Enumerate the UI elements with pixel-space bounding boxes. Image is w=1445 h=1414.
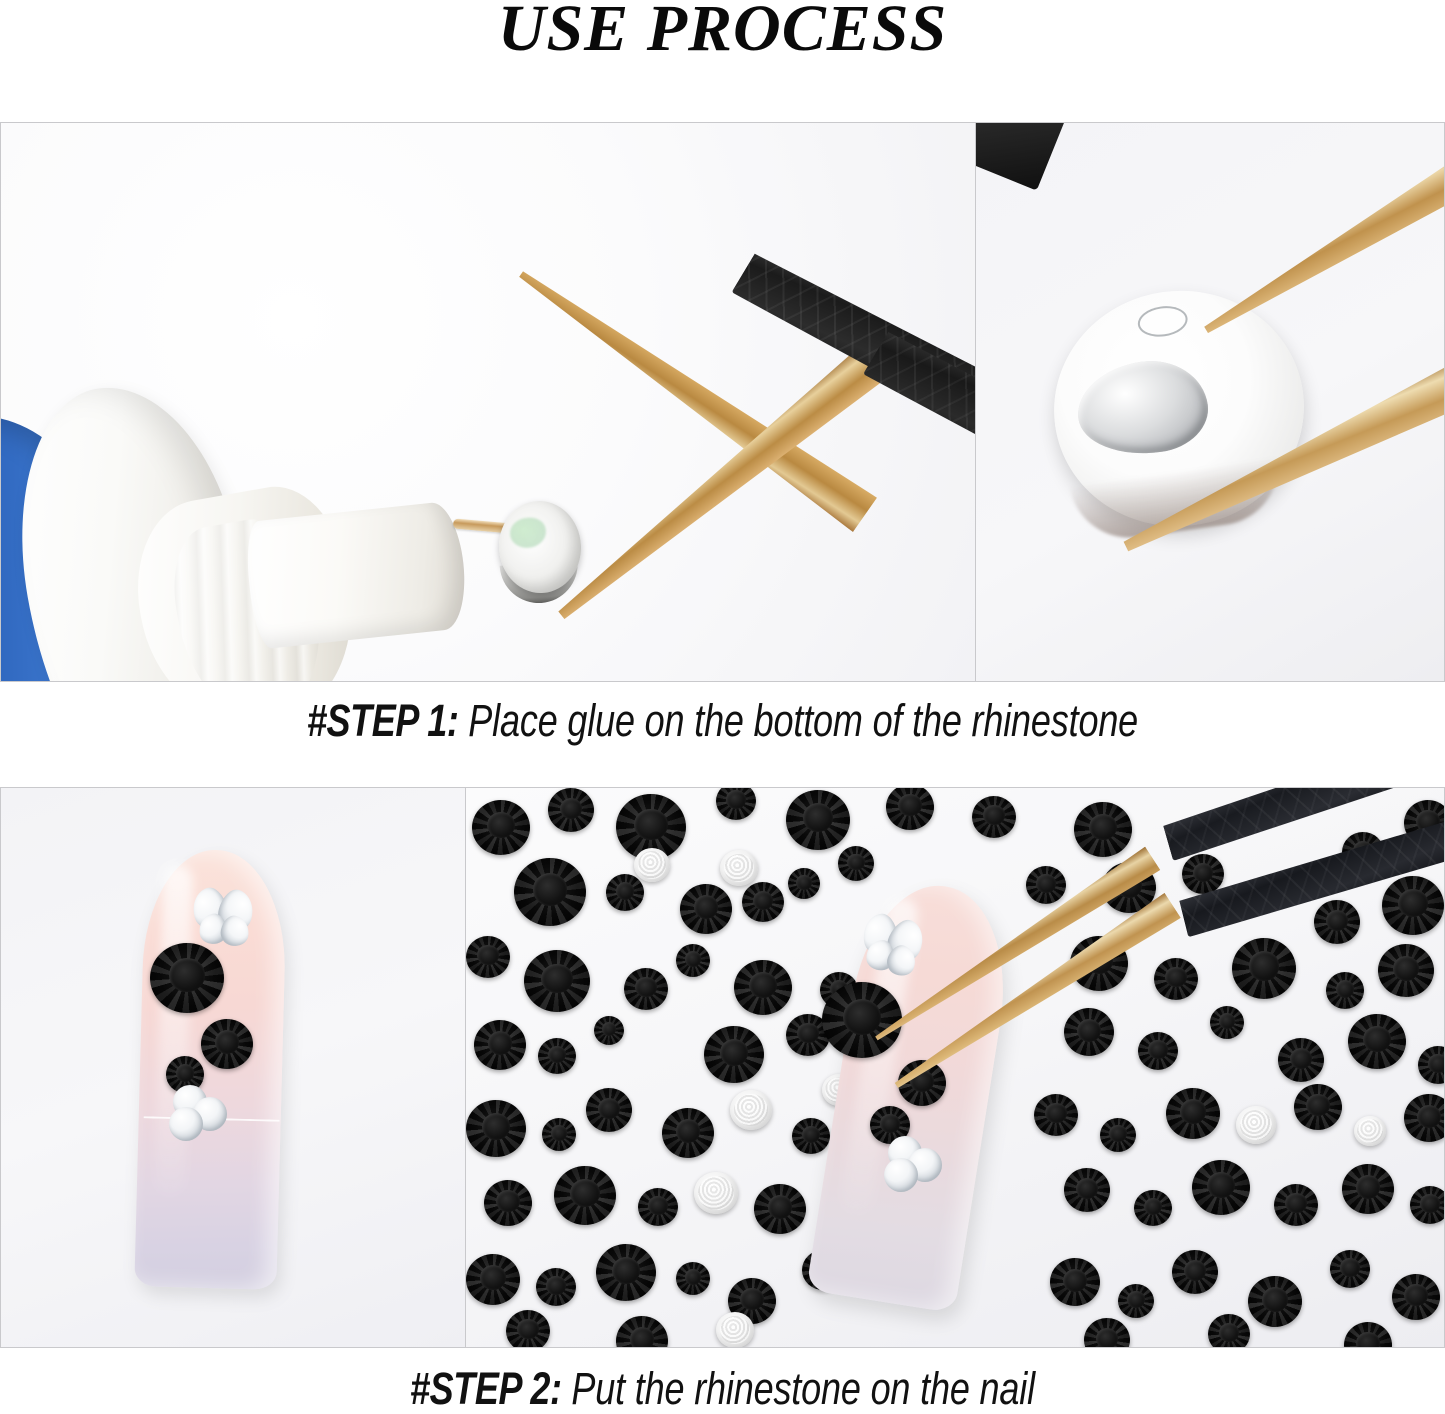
clear-flower-charm <box>884 1136 946 1196</box>
glue-bubble <box>1136 303 1190 340</box>
placing-rhinestone-photo <box>465 787 1445 1348</box>
clear-butterfly-charm <box>193 888 253 946</box>
clear-butterfly-charm <box>858 912 926 979</box>
black-rhinestone-being-placed <box>822 982 902 1058</box>
clear-flower-charm <box>169 1085 231 1145</box>
step-1-photo-row <box>0 122 1445 682</box>
step-2-caption: #STEP 2: Put the rhinestone on the nail <box>145 1366 1301 1411</box>
step-2-text: Put the rhinestone on the nail <box>562 1363 1035 1414</box>
glue-bottle-nozzle <box>243 500 470 650</box>
finished-nail-photo <box>0 787 465 1348</box>
step-1-caption: #STEP 1: Place glue on the bottom of the… <box>145 698 1301 743</box>
page-title: USE PROCESS <box>498 0 947 62</box>
glue-application-photo <box>0 122 975 682</box>
glue-blob <box>1072 353 1214 462</box>
flower-petal-left <box>884 1158 918 1192</box>
black-rhinestone-medium <box>201 1019 253 1069</box>
step-2-label: #STEP 2: <box>410 1363 562 1414</box>
rhinestone-back-closeup-photo <box>975 122 1445 682</box>
page-header: USE PROCESS <box>0 0 1445 122</box>
step-1-label: #STEP 1: <box>307 695 459 746</box>
black-rhinestone-large <box>150 943 224 1013</box>
step-2-photo-row <box>0 787 1445 1348</box>
flower-petal-left <box>169 1107 203 1141</box>
step-1-text: Place glue on the bottom of the rhinesto… <box>458 695 1138 746</box>
